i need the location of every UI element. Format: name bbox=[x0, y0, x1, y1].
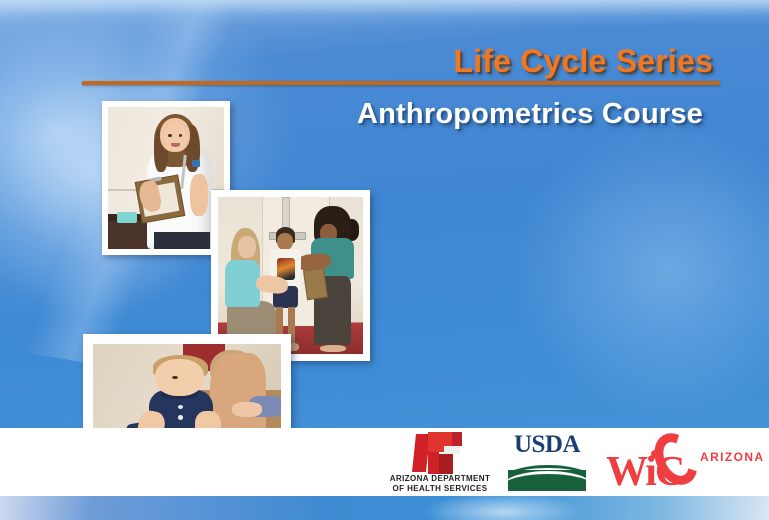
usda-field-icon bbox=[508, 461, 586, 491]
photo-2-canvas bbox=[218, 197, 363, 354]
adhs-mark-icon bbox=[414, 432, 466, 474]
usda-logo: USDA bbox=[506, 431, 588, 493]
arizona-department-of-health-services-logo: ARIZONA DEPARTMENT OF HEALTH SERVICES bbox=[388, 430, 492, 494]
page-title: Life Cycle Series bbox=[0, 43, 713, 80]
adhs-logo-line-1: ARIZONA DEPARTMENT bbox=[388, 474, 492, 484]
usda-wordmark: USDA bbox=[506, 431, 588, 459]
background-top-highlight bbox=[0, 0, 769, 26]
photo-1-canvas bbox=[108, 107, 224, 249]
wic-mark-icon: WiC bbox=[604, 430, 698, 490]
wic-state-label: ARIZONA bbox=[700, 450, 764, 464]
title-divider bbox=[82, 81, 720, 85]
footer-logos: ARIZONA DEPARTMENT OF HEALTH SERVICES US… bbox=[0, 428, 769, 496]
wic-arizona-logo: WiC ARIZONA bbox=[604, 428, 750, 494]
adhs-logo-text: ARIZONA DEPARTMENT OF HEALTH SERVICES bbox=[388, 474, 492, 493]
footer-accent-band bbox=[0, 496, 769, 520]
title-slide: Life Cycle Series Anthropometrics Course bbox=[0, 0, 769, 520]
background-glow-right bbox=[509, 120, 769, 420]
